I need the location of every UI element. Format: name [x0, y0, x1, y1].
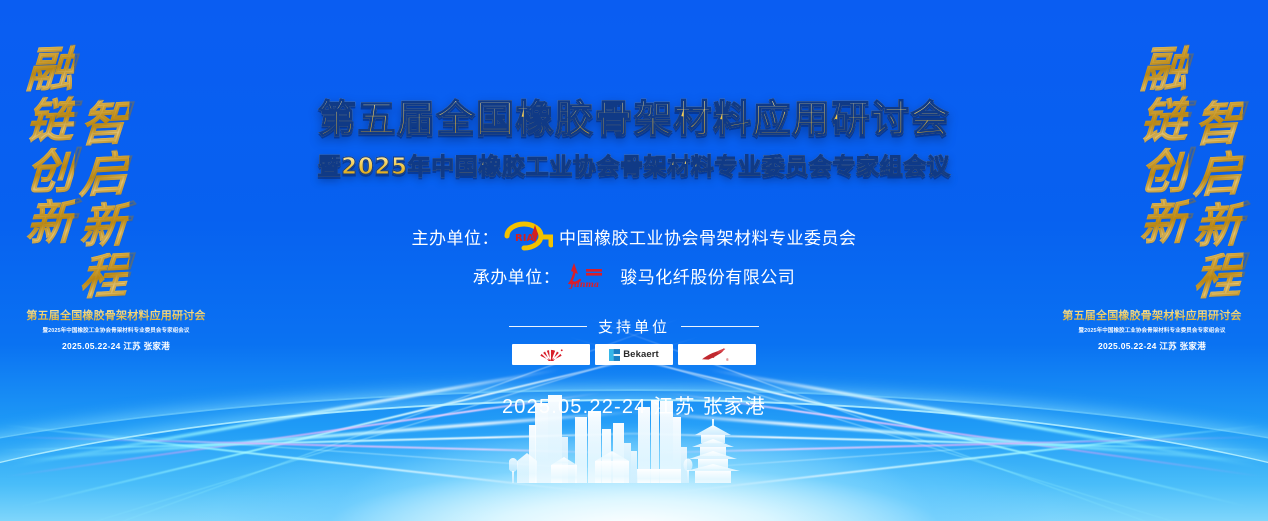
support-section: 支持单位 — [232, 316, 1036, 365]
date-location: 2025.05.22-24 江苏 张家港 — [232, 390, 1036, 419]
junma-logo: Junma — [562, 260, 614, 290]
organizer-block: 主办单位： RIA 中国橡胶工业协会骨架材料专业委员会 承办单位： — [232, 221, 1036, 290]
cria-logo: RIA — [501, 221, 553, 251]
divider-left — [509, 326, 587, 327]
organizer-name: 骏马化纤股份有限公司 — [620, 263, 795, 288]
sunburst-logo — [512, 344, 590, 365]
page-title: 第五届全国橡胶骨架材料应用研讨会 — [232, 88, 1036, 143]
page-subtitle: 暨2025年中国橡胶工业协会骨架材料专业委员会专家组会议 — [232, 147, 1036, 181]
red-bird-logo: ® — [678, 344, 756, 365]
bekaert-mark — [609, 349, 620, 361]
support-logo-list: Bekaert ® — [512, 344, 756, 365]
bekaert-label: Bekaert — [623, 349, 659, 360]
center-content: 第五届全国橡胶骨架材料应用研讨会 暨2025年中国橡胶工业协会骨架材料专业委员会… — [232, 0, 1036, 521]
organizer-row-coorganizer: 承办单位： Junma 骏马化纤股份有限公司 — [473, 260, 796, 290]
conference-banner: 融 链 创 新 智 启 新 程 第五届全国橡胶骨架材料应用研讨会 暨2025年中… — [0, 0, 1268, 521]
organizer-label: 主办单位： — [412, 224, 500, 249]
organizer-name: 中国橡胶工业协会骨架材料专业委员会 — [559, 224, 857, 249]
support-heading: 支持单位 — [598, 316, 670, 337]
svg-text:Junma: Junma — [568, 279, 599, 289]
svg-text:RIA: RIA — [515, 233, 534, 244]
divider-right — [681, 326, 759, 327]
organizer-label: 承办单位： — [473, 263, 561, 288]
bekaert-logo: Bekaert — [595, 344, 673, 365]
svg-text:®: ® — [725, 358, 729, 362]
organizer-row-host: 主办单位： RIA 中国橡胶工业协会骨架材料专业委员会 — [412, 221, 857, 251]
support-heading-row: 支持单位 — [509, 316, 759, 337]
